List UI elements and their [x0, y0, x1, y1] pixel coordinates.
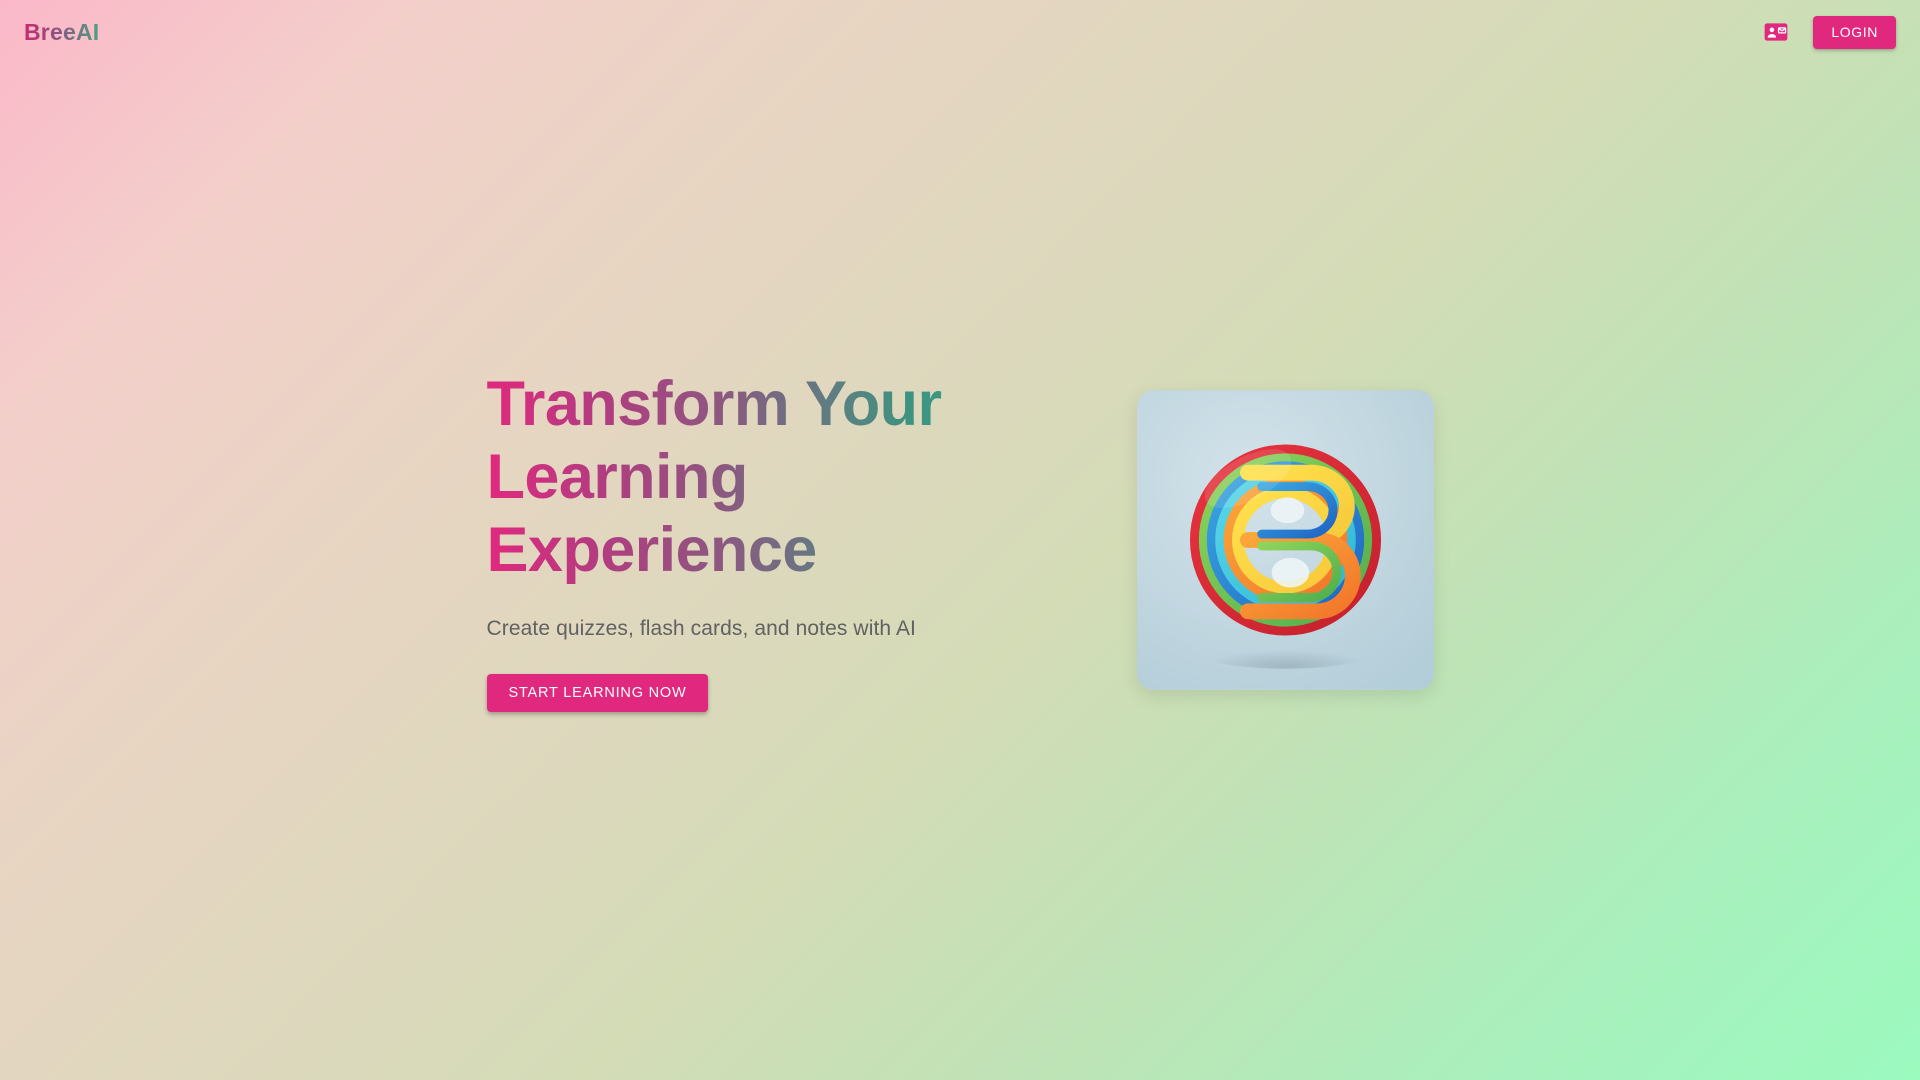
login-button[interactable]: LOGIN	[1813, 16, 1896, 49]
contact-card-icon[interactable]	[1763, 19, 1789, 45]
headline-line-1: Transform Your	[487, 369, 942, 439]
hero-section: Transform Your Learning Experience Creat…	[0, 0, 1920, 1080]
headline-line-3: Experience	[487, 515, 817, 585]
page-title: Transform Your Learning Experience	[487, 368, 1007, 587]
headline-line-2: Learning	[487, 442, 748, 512]
brand-logo[interactable]: BreeAI	[24, 19, 99, 46]
hero-subtitle: Create quizzes, flash cards, and notes w…	[487, 613, 1007, 645]
hero-text-block: Transform Your Learning Experience Creat…	[487, 368, 1007, 712]
start-learning-button[interactable]: START LEARNING NOW	[487, 674, 709, 712]
header-actions: LOGIN	[1763, 16, 1896, 49]
breeai-3d-b-logo-icon	[1137, 390, 1434, 690]
app-header: BreeAI LOGIN	[0, 0, 1920, 64]
hero-image-card	[1137, 390, 1434, 690]
